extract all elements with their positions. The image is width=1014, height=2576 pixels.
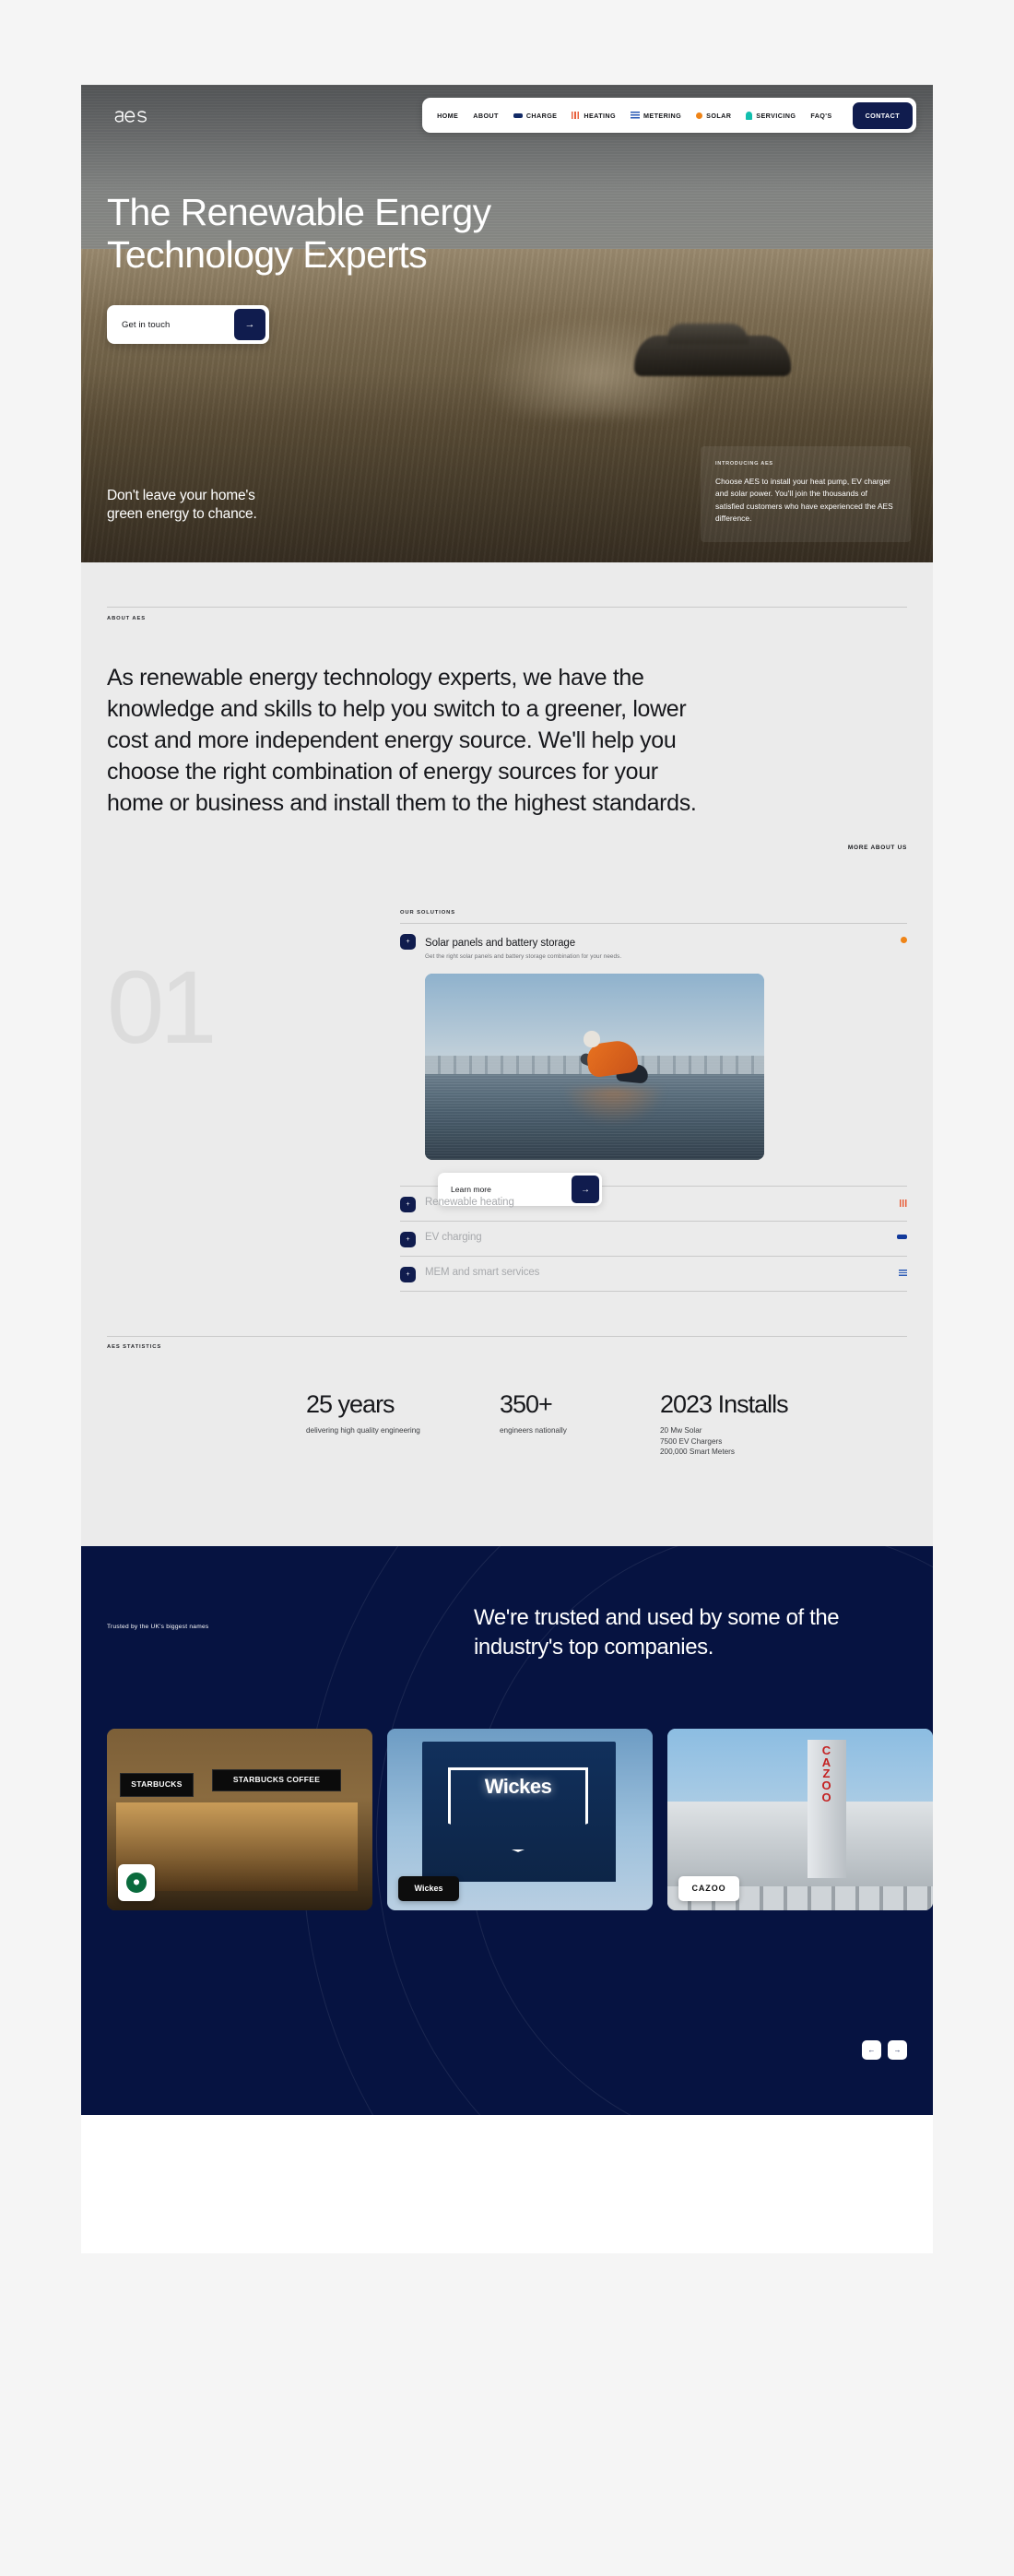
stat-value: 350+ xyxy=(500,1392,629,1417)
solutions-divider xyxy=(400,1291,907,1292)
solutions-section: 01 OUR SOLUTIONS + Solar panels and batt… xyxy=(81,851,933,1292)
nav-item-label: CHARGE xyxy=(526,112,558,120)
solution-item-ev-charging[interactable]: + EV charging xyxy=(400,1222,907,1256)
stat-item: 25 years delivering high quality enginee… xyxy=(306,1392,468,1436)
charge-icon xyxy=(513,113,523,118)
carousel-prev-button[interactable]: ← xyxy=(862,2040,881,2060)
solution-item-mem-smart-services[interactable]: + MEM and smart services xyxy=(400,1257,907,1291)
nav-item-label: SOLAR xyxy=(706,112,731,120)
stat-value: 2023 Installs xyxy=(660,1392,881,1417)
hero-content: The Renewable Energy Technology Experts … xyxy=(81,192,933,344)
starbucks-sign-wide-text: STARBUCKS COFFEE xyxy=(233,1776,320,1785)
nav-item-label: HEATING xyxy=(584,112,616,120)
solution-card-wrap: Learn more → xyxy=(425,974,907,1186)
contact-button[interactable]: CONTACT xyxy=(853,102,913,129)
nav-item-metering[interactable]: METERING xyxy=(631,112,681,120)
trusted-section: Trusted by the UK's biggest names We're … xyxy=(81,1546,933,2115)
nav-item-about[interactable]: ABOUT xyxy=(473,112,499,120)
card-worker xyxy=(580,1027,652,1088)
carousel-next-button[interactable]: → xyxy=(888,2040,907,2060)
card-reflection xyxy=(563,1088,665,1125)
starbucks-siren-icon xyxy=(126,1873,147,1893)
aes-logo[interactable] xyxy=(98,107,149,124)
solar-icon xyxy=(696,112,702,119)
client-card-cazoo[interactable]: CAZOO CAZOO xyxy=(667,1729,933,1910)
solar-dot-icon xyxy=(901,937,907,943)
hero-title-line-2: Technology Experts xyxy=(107,233,427,276)
nav-item-label: HOME xyxy=(437,112,458,120)
solution-subtitle: Get the right solar panels and battery s… xyxy=(425,953,621,960)
stat-label: engineers nationally xyxy=(500,1425,629,1436)
solutions-eyebrow: OUR SOLUTIONS xyxy=(400,910,907,916)
hero-tagline-line-2: green energy to chance. xyxy=(107,506,257,522)
about-section: ABOUT AES As renewable energy technology… xyxy=(81,562,933,851)
plus-icon: + xyxy=(400,1197,416,1212)
solution-item-solar[interactable]: + Solar panels and battery storage Get t… xyxy=(400,924,907,968)
heating-icon xyxy=(900,1199,907,1207)
plus-icon: + xyxy=(400,1267,416,1282)
plus-icon: + xyxy=(400,934,416,950)
plus-icon: + xyxy=(400,1232,416,1247)
introducing-aes-card: INTRODUCING AES Choose AES to install yo… xyxy=(701,446,911,542)
stat-label: 20 Mw Solar 7500 EV Chargers 200,000 Sma… xyxy=(660,1425,881,1458)
introducing-aes-eyebrow: INTRODUCING AES xyxy=(715,461,896,467)
stat-label: delivering high quality engineering xyxy=(306,1425,468,1436)
hero-section: HOME ABOUT CHARGE HEATING xyxy=(81,85,933,562)
starbucks-sign: STARBUCKS xyxy=(120,1773,194,1797)
solution-item-renewable-heating[interactable]: + Renewable heating xyxy=(400,1187,907,1221)
stat-item: 350+ engineers nationally xyxy=(500,1392,629,1436)
top-navigation-bar: HOME ABOUT CHARGE HEATING xyxy=(81,85,933,146)
nav-item-heating[interactable]: HEATING xyxy=(572,112,616,120)
heating-icon xyxy=(572,112,580,119)
stats-eyebrow: AES STATISTICS xyxy=(107,1337,907,1350)
nav-item-solar[interactable]: SOLAR xyxy=(696,112,731,120)
nav-item-label: FAQ'S xyxy=(810,112,831,120)
servicing-icon xyxy=(746,112,752,120)
starbucks-sign-wide: STARBUCKS COFFEE xyxy=(212,1769,341,1791)
client-card-starbucks[interactable]: STARBUCKS STARBUCKS COFFEE xyxy=(107,1729,372,1910)
charge-icon xyxy=(897,1235,907,1239)
metering-icon xyxy=(899,1270,907,1277)
nav-item-label: ABOUT xyxy=(473,112,499,120)
trusted-heading: We're trusted and used by some of the in… xyxy=(474,1603,907,1662)
solution-title: MEM and smart services xyxy=(425,1267,539,1278)
solution-title: Solar panels and battery storage xyxy=(425,938,575,949)
website-frame: HOME ABOUT CHARGE HEATING xyxy=(81,85,933,2253)
carousel-controls: ← → xyxy=(862,2040,907,2060)
hero-tagline: Don't leave your home's green energy to … xyxy=(107,487,257,524)
stat-item: 2023 Installs 20 Mw Solar 7500 EV Charge… xyxy=(660,1392,881,1458)
solution-photo-card xyxy=(425,974,764,1160)
wickes-storefront-board: Wickes xyxy=(422,1742,616,1882)
hero-tagline-line-1: Don't leave your home's xyxy=(107,488,255,503)
cazoo-badge-text: CAZOO xyxy=(692,1884,726,1893)
arrow-right-icon: → xyxy=(234,309,265,340)
solution-title: EV charging xyxy=(425,1232,482,1243)
client-card-wickes[interactable]: Wickes Wickes xyxy=(387,1729,653,1910)
solutions-number: 01 xyxy=(107,904,400,1292)
nav-pill: HOME ABOUT CHARGE HEATING xyxy=(422,98,916,133)
get-in-touch-button[interactable]: Get in touch → xyxy=(107,305,269,344)
page-root: HOME ABOUT CHARGE HEATING xyxy=(0,0,1014,2576)
introducing-aes-body: Choose AES to install your heat pump, EV… xyxy=(715,476,896,526)
stats-row: 25 years delivering high quality enginee… xyxy=(107,1392,907,1458)
footer-strip xyxy=(81,2115,933,2253)
solution-title: Renewable heating xyxy=(425,1197,514,1208)
stat-value: 25 years xyxy=(306,1392,468,1417)
nav-item-label: SERVICING xyxy=(756,112,796,120)
nav-item-charge[interactable]: CHARGE xyxy=(513,112,558,120)
cazoo-sign-text: CAZOO xyxy=(813,1745,841,1804)
nav-item-faqs[interactable]: FAQ'S xyxy=(810,112,831,120)
hero-title-line-1: The Renewable Energy xyxy=(107,191,490,233)
get-in-touch-label: Get in touch xyxy=(111,320,234,330)
hero-title: The Renewable Energy Technology Experts xyxy=(107,192,697,276)
client-logo-carousel: STARBUCKS STARBUCKS COFFEE Wickes xyxy=(107,1729,933,1910)
cazoo-logo-badge: CAZOO xyxy=(678,1876,739,1901)
solutions-list: OUR SOLUTIONS + Solar panels and battery… xyxy=(400,904,907,1292)
wickes-sign-text: Wickes xyxy=(422,1775,614,1799)
more-about-us-link[interactable]: MORE ABOUT US xyxy=(107,845,907,851)
statistics-section: AES STATISTICS 25 years delivering high … xyxy=(81,1292,933,1546)
about-eyebrow: ABOUT AES xyxy=(107,608,907,621)
nav-item-home[interactable]: HOME xyxy=(437,112,458,120)
starbucks-sign-text: STARBUCKS xyxy=(131,1780,182,1790)
about-heading: As renewable energy technology experts, … xyxy=(107,662,697,819)
nav-item-servicing[interactable]: SERVICING xyxy=(746,112,796,120)
starbucks-logo-badge xyxy=(118,1864,155,1901)
wickes-badge-text: Wickes xyxy=(415,1884,443,1893)
nav-item-label: METERING xyxy=(643,112,681,120)
wickes-logo-badge: Wickes xyxy=(398,1876,459,1901)
metering-icon xyxy=(631,112,640,119)
aes-logo-icon xyxy=(112,107,149,124)
